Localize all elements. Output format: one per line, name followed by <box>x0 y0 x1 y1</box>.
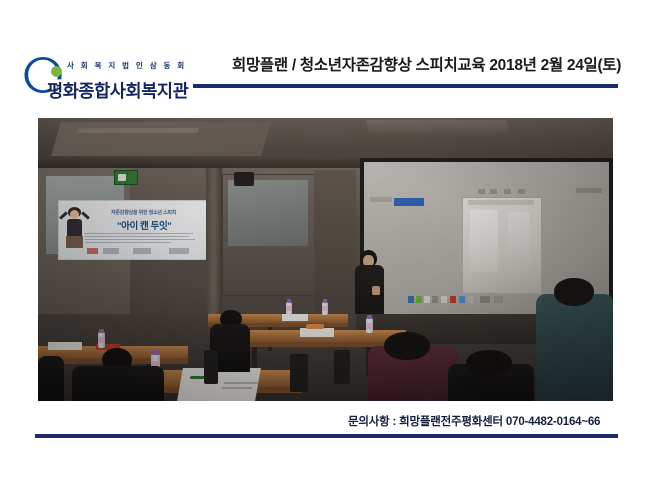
page-header: 사 회 복 지 법 인 삼 동 회 평화종합사회복지관 희망플랜 / 청소년자존… <box>0 0 650 110</box>
student-seated <box>38 356 64 401</box>
screen-top-right-controls <box>576 188 602 193</box>
contact-info: 문의사항 : 희망플랜전주평화센터 070-4482-0164~66 <box>348 413 600 429</box>
paper-handout <box>300 328 334 337</box>
student-head <box>466 350 512 376</box>
glass-door-pane <box>228 180 308 246</box>
bottle-label <box>286 306 292 311</box>
paper-text-line <box>222 387 252 389</box>
bottle-cap <box>287 299 291 303</box>
banner-photo-person <box>62 206 88 256</box>
page-title: 희망플랜 / 청소년자존감향상 스피치교육 2018년 2월 24일(토) <box>232 53 621 75</box>
orange-item <box>306 324 324 329</box>
bottle-label <box>322 306 328 311</box>
chair <box>334 350 350 384</box>
wall-pillar <box>206 168 222 318</box>
bottle-label <box>366 323 373 329</box>
chair <box>290 354 308 392</box>
ceiling-vent <box>77 128 199 133</box>
logo-subtitle: 사 회 복 지 법 인 삼 동 회 <box>67 60 187 71</box>
bottle-cap <box>323 299 327 303</box>
paper-text-line <box>224 382 258 384</box>
header-divider <box>193 84 618 88</box>
event-photo: 자존감향상을 위한 청소년 스피치 "아이 캔 두잇" <box>38 118 613 401</box>
right-wall-panel <box>314 170 356 316</box>
bottle-cap <box>99 329 104 333</box>
chair <box>204 350 218 384</box>
paper-handout <box>177 368 261 401</box>
banner-line1: 자존감향상을 위한 청소년 스피치 <box>111 209 176 216</box>
banner-line2: "아이 캔 두잇" <box>117 218 171 232</box>
bottle-cap <box>152 350 159 355</box>
screen-window-content-left <box>470 210 498 272</box>
bottle-cap <box>367 315 372 319</box>
student-teal-jacket <box>536 294 613 401</box>
banner-sponsor-logos <box>87 248 195 255</box>
student-head <box>384 332 430 360</box>
ceiling-light <box>366 120 509 136</box>
bottle-label <box>98 337 105 343</box>
screen-start-button <box>394 198 424 206</box>
banner-body-text <box>85 233 197 245</box>
screen-window-titlebar <box>468 200 534 205</box>
student-head <box>554 278 594 306</box>
screen-menu-text <box>370 197 392 202</box>
ceiling-speaker <box>234 172 254 186</box>
emergency-exit-sign-icon <box>114 170 138 185</box>
student-seated-foreground <box>72 366 164 401</box>
logo-name: 평화종합사회복지관 <box>47 78 188 103</box>
screen-window-content-right <box>508 212 530 270</box>
organization-logo: 사 회 복 지 법 인 삼 동 회 평화종합사회복지관 <box>22 52 197 104</box>
paper-handout <box>282 314 308 321</box>
screen-taskbar <box>408 296 513 304</box>
paper-handout <box>48 342 82 350</box>
footer-divider <box>35 434 618 438</box>
